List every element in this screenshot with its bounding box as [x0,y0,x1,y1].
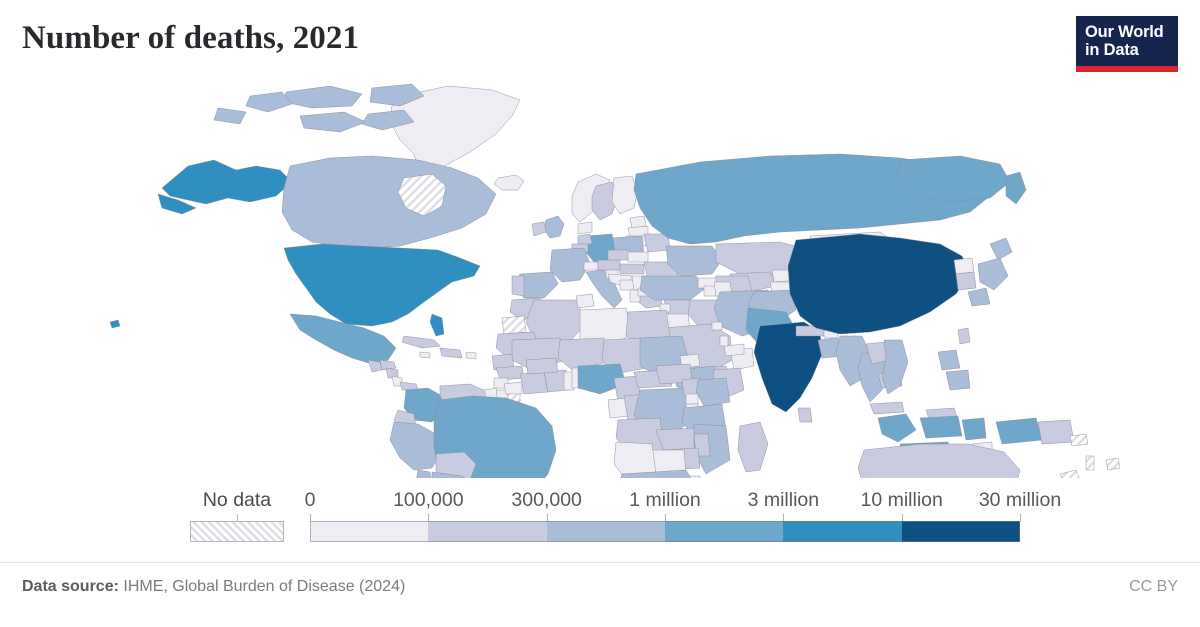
legend-tick-2 [547,514,548,521]
legend-tick-3 [665,514,666,521]
country-canada[interactable] [282,156,496,248]
owid-logo[interactable]: Our World in Data [1076,16,1178,72]
country-austria[interactable] [598,260,620,270]
country-slovakia[interactable] [628,252,648,262]
country-canada-arctic-1[interactable] [284,86,362,108]
legend-no-data-swatch[interactable] [190,521,284,542]
country-kamchatka[interactable] [1006,172,1026,204]
country-australia[interactable] [858,444,1020,478]
country-kenya[interactable] [696,378,730,406]
country-finland[interactable] [612,176,638,214]
country-tunisia[interactable] [576,294,594,308]
country-hawaii[interactable] [110,320,120,328]
country-panama[interactable] [400,382,418,390]
country-canada-arctic-4[interactable] [246,92,292,112]
country-rwanda[interactable] [686,394,698,404]
license-label[interactable]: CC BY [1129,578,1178,596]
country-japan-s[interactable] [968,288,990,306]
country-liberia[interactable] [504,382,522,394]
legend-tick-0 [310,514,311,521]
legend-scale-ticks [310,514,1020,521]
legend-bucket-3[interactable] [665,521,783,542]
country-japan-m[interactable] [978,258,1008,290]
country-switzerland[interactable] [584,262,598,270]
legend-label-2: 300,000 [511,488,582,512]
country-indonesia-papua[interactable] [996,418,1042,444]
page-title: Number of deaths, 2021 [22,20,359,57]
legend-color-scale[interactable] [310,521,1020,542]
legend-tick-1 [428,514,429,521]
country-alaska[interactable] [162,160,292,204]
country-taiwan[interactable] [958,328,970,344]
logo-accent-bar [1076,66,1178,72]
data-source-label: Data source: [22,578,119,595]
country-ireland[interactable] [532,222,546,236]
country-solomon-islands[interactable] [1070,434,1088,446]
world-map-svg[interactable] [0,78,1200,478]
country-papua-new-guinea[interactable] [1038,420,1074,444]
country-canada-arctic-3[interactable] [300,112,366,132]
map-legend: No data 0100,000300,0001 million3 millio… [0,488,1200,550]
country-indonesia-sumatra[interactable] [878,414,916,442]
country-estonia[interactable] [630,216,646,228]
country-philippines-2[interactable] [946,370,970,390]
country-kuwait[interactable] [712,322,722,330]
country-sri-lanka[interactable] [798,408,812,422]
logo-line-1: Our World [1076,23,1178,41]
country-canada-arctic-6[interactable] [214,108,246,124]
country-hungary[interactable] [620,264,644,274]
country-eswatini[interactable] [690,476,700,478]
country-madagascar[interactable] [738,422,768,472]
country-new-caledonia[interactable] [1060,470,1080,478]
country-netherlands[interactable] [578,234,592,244]
legend-tick-5 [902,514,903,521]
country-puerto-rico[interactable] [466,352,476,359]
legend-tick-6 [1020,514,1021,521]
legend-label-0: 0 [305,488,316,512]
country-philippines-1[interactable] [938,350,960,370]
legend-bucket-5[interactable] [902,521,1020,542]
legend-label-1: 100,000 [393,488,464,512]
country-fiji[interactable] [1106,458,1120,470]
legend-label-6: 30 million [979,488,1061,512]
data-source-text: IHME, Global Burden of Disease (2024) [123,578,405,595]
legend-bucket-1[interactable] [428,521,546,542]
country-united-states[interactable] [284,244,480,326]
country-vanuatu[interactable] [1086,456,1094,470]
country-japan-n[interactable] [990,238,1012,260]
country-us-florida[interactable] [430,314,444,336]
logo-line-2: in Data [1076,41,1178,59]
country-guatemala[interactable] [368,360,382,372]
legend-tick-labels: 0100,000300,0001 million3 million10 mill… [0,488,1200,516]
country-hispaniola[interactable] [440,348,462,358]
legend-bucket-4[interactable] [783,521,901,542]
legend-label-4: 3 million [748,488,820,512]
country-indonesia-kalimantan[interactable] [920,416,962,438]
country-turkey[interactable] [640,276,706,300]
country-ivory-coast[interactable] [520,372,548,394]
legend-label-3: 1 million [629,488,701,512]
legend-tick-4 [783,514,784,521]
country-united-kingdom[interactable] [544,216,564,238]
country-western-sahara[interactable] [502,316,526,334]
country-china[interactable] [788,234,970,334]
country-malaysia[interactable] [870,402,904,414]
country-north-korea[interactable] [954,258,974,274]
country-south-korea[interactable] [956,272,976,290]
country-cuba[interactable] [402,336,440,348]
country-indonesia-sulawesi[interactable] [962,418,986,440]
country-burkina-faso[interactable] [526,358,558,374]
data-source: Data source: IHME, Global Burden of Dise… [22,578,405,596]
country-qatar[interactable] [720,336,728,346]
country-shapes[interactable] [110,84,1120,478]
country-iceland[interactable] [494,175,524,190]
country-czechia[interactable] [608,250,630,260]
country-vietnam[interactable] [882,340,908,394]
legend-bucket-0[interactable] [310,521,428,542]
legend-label-5: 10 million [860,488,942,512]
country-denmark[interactable] [578,222,592,234]
country-portugal[interactable] [512,276,524,296]
country-jamaica[interactable] [420,352,430,358]
world-map[interactable] [0,78,1200,478]
legend-bucket-2[interactable] [547,521,665,542]
footer-divider [0,562,1200,563]
owid-map-chart: Number of deaths, 2021 Our World in Data… [0,0,1200,627]
